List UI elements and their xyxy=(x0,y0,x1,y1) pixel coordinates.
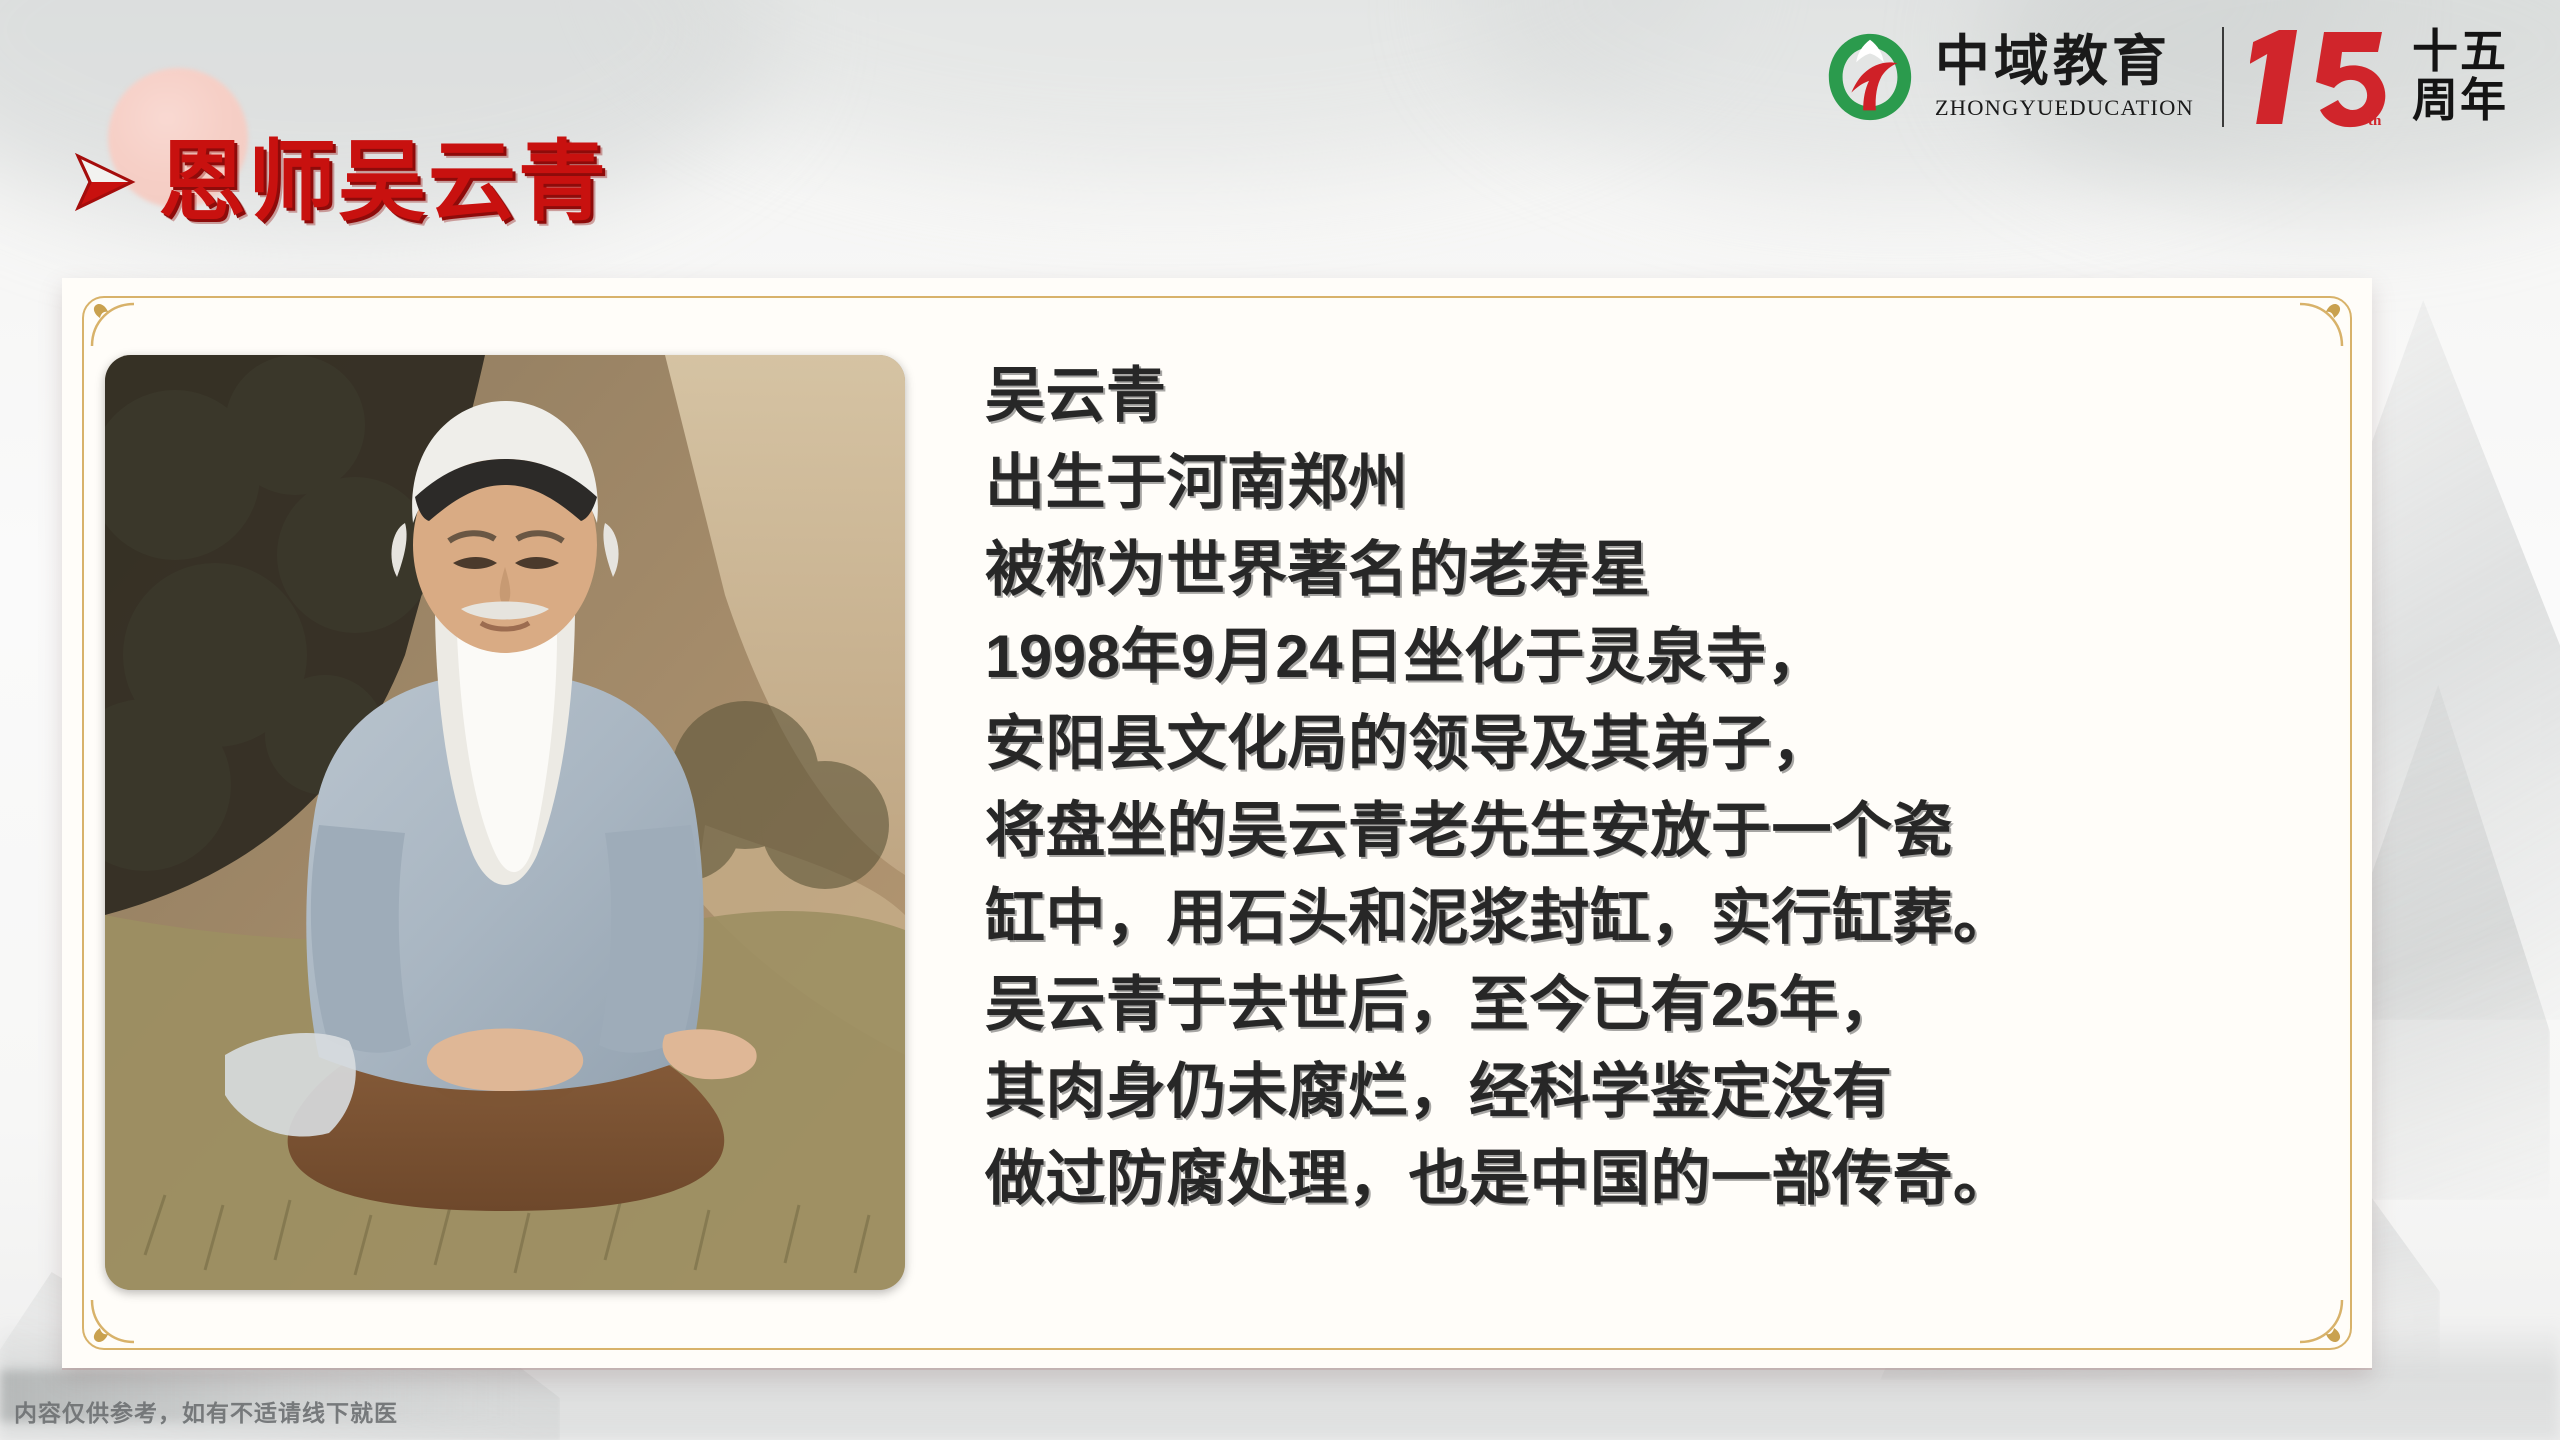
text-line: 做过防腐处理，也是中国的一部传奇。 xyxy=(985,1135,2315,1222)
brand-name-cn: 中域教育 xyxy=(1935,33,2194,90)
anniversary-badge: th 十五 周年 xyxy=(2250,24,2508,130)
brand-logo: 中域教育 ZHONGYUEDUCATION th 十五 周年 xyxy=(1821,24,2508,130)
disclaimer-text: 内容仅供参考，如有不适请线下就医 xyxy=(14,1394,398,1428)
text-line: 被称为世界著名的老寿星 xyxy=(985,526,2315,613)
text-line: 将盘坐的吴云青老先生安放于一个瓷 xyxy=(985,787,2315,874)
text-line: 吴云青 xyxy=(985,352,2315,439)
vertical-divider xyxy=(2222,27,2224,127)
text-line: 1998年9月24日坐化于灵泉寺， xyxy=(985,613,2315,700)
text-line: 其肉身仍未腐烂，经科学鉴定没有 xyxy=(985,1048,2315,1135)
biography-text: 吴云青 出生于河南郑州 被称为世界著名的老寿星 1998年9月24日坐化于灵泉寺… xyxy=(985,352,2315,1222)
anniversary-line2: 周年 xyxy=(2412,75,2508,126)
portrait-photo xyxy=(105,355,905,1290)
frame-corner-bottom-right-icon xyxy=(2298,1298,2344,1344)
anniversary-line1: 十五 xyxy=(2412,26,2508,77)
brand-name-block: 中域教育 ZHONGYUEDUCATION xyxy=(1935,33,2194,121)
anniversary-15-icon: th xyxy=(2250,24,2400,130)
frame-corner-top-left-icon xyxy=(90,302,136,348)
page-title: 恩师吴云青 xyxy=(158,138,608,226)
zhongyu-leaf-logo-icon xyxy=(1821,28,1919,126)
text-line: 吴云青于去世后，至今已有25年， xyxy=(985,961,2315,1048)
svg-text:th: th xyxy=(2368,113,2382,129)
text-line: 安阳县文化局的领导及其弟子， xyxy=(985,700,2315,787)
page-title-row: 恩师吴云青 xyxy=(70,138,608,226)
arrow-bullet-icon xyxy=(70,146,142,218)
text-line: 缸中，用石头和泥浆封缸，实行缸葬。 xyxy=(985,874,2315,961)
frame-corner-top-right-icon xyxy=(2298,302,2344,348)
text-line: 出生于河南郑州 xyxy=(985,439,2315,526)
frame-corner-bottom-left-icon xyxy=(90,1298,136,1344)
anniversary-label: 十五 周年 xyxy=(2412,28,2508,126)
brand-name-en: ZHONGYUEDUCATION xyxy=(1935,95,2194,121)
